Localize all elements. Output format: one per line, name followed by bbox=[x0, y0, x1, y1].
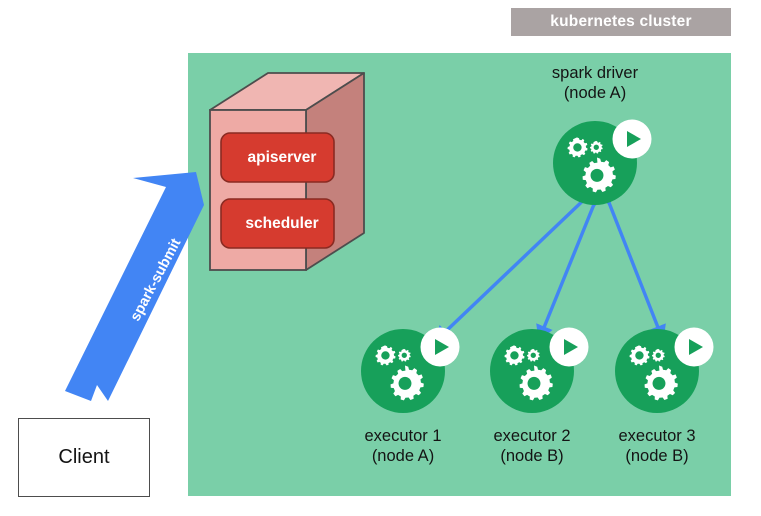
executor-2-caption: executor 2 (node B) bbox=[462, 427, 602, 467]
executor-3-caption: executor 3 (node B) bbox=[587, 427, 727, 467]
scheduler-label: scheduler bbox=[222, 215, 342, 233]
client-label: Client bbox=[58, 446, 109, 469]
spark-driver-title: spark driver bbox=[552, 64, 638, 82]
executor-1-node: (node A) bbox=[333, 447, 473, 467]
executor-2-title: executor 2 bbox=[493, 427, 570, 445]
spark-driver-node: (node A) bbox=[515, 84, 675, 104]
kubernetes-cluster-label: kubernetes cluster bbox=[550, 13, 691, 31]
executor-2-node: (node B) bbox=[462, 447, 602, 467]
apiserver-label: apiserver bbox=[222, 149, 342, 167]
executor-1-caption: executor 1 (node A) bbox=[333, 427, 473, 467]
executor-3-title: executor 3 bbox=[618, 427, 695, 445]
executor-1-title: executor 1 bbox=[364, 427, 441, 445]
executor-3-node: (node B) bbox=[587, 447, 727, 467]
spark-submit-arrow bbox=[65, 172, 204, 401]
client-box: Client bbox=[18, 418, 150, 497]
diagram-canvas: kubernetes cluster apiserver scheduler s… bbox=[0, 0, 761, 516]
kubernetes-cluster-badge: kubernetes cluster bbox=[511, 8, 731, 36]
spark-driver-caption: spark driver (node A) bbox=[515, 64, 675, 104]
control-plane-cube-icon bbox=[210, 73, 364, 270]
